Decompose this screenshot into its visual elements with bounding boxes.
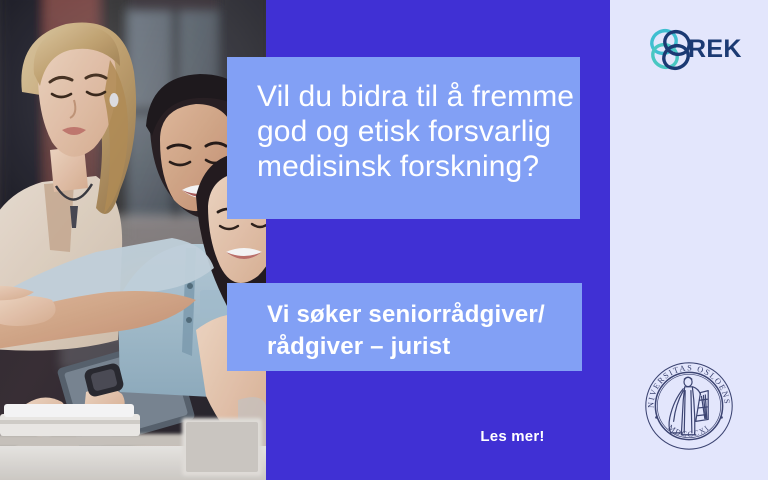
headline-line-1: Vil du bidra til å fremme [257, 79, 554, 114]
read-more-link[interactable]: Les mer! [440, 428, 585, 445]
recruitment-banner: Vil du bidra til å fremme god og etisk f… [0, 0, 768, 480]
uio-seal: UNIVERSITAS OSLOENSIS MDCCCXI [641, 358, 737, 454]
university-of-oslo-seal-icon: UNIVERSITAS OSLOENSIS MDCCCXI [641, 358, 737, 454]
interlocking-rings-icon [648, 26, 692, 72]
job-title-line-2: rådgiver – jurist [267, 331, 562, 363]
headline-line-2: god og etisk forsvarlig [257, 114, 554, 149]
headline-line-3: medisinsk forskning? [257, 149, 554, 184]
headline-panel: Vil du bidra til å fremme god og etisk f… [227, 57, 580, 219]
rek-logo[interactable]: REK [648, 26, 744, 74]
job-title-line-1: Vi søker seniorrådgiver/ [267, 299, 562, 331]
seal-outer-text: UNIVERSITAS OSLOENSIS [641, 358, 732, 408]
rek-wordmark: REK [688, 35, 742, 64]
job-title-panel: Vi søker seniorrådgiver/ rådgiver – juri… [227, 283, 582, 371]
